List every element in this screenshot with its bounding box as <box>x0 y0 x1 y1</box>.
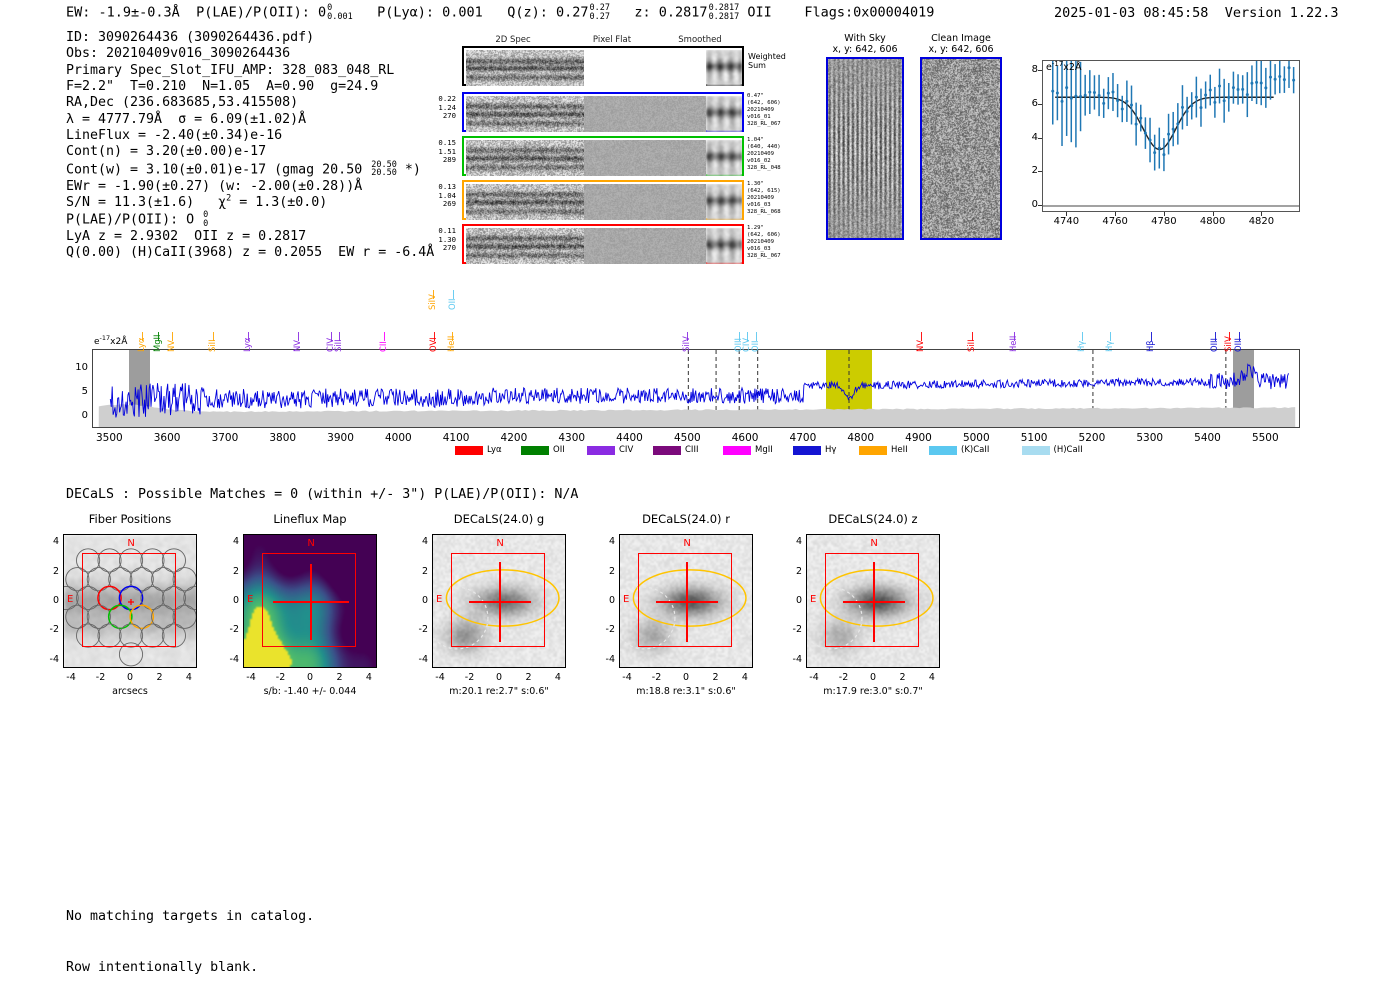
panel-crosshair-v-2 <box>499 562 500 642</box>
line-label-siiv-24: SiIV <box>1223 336 1233 352</box>
panel-0-xtick-0: -4 <box>59 672 83 683</box>
spectrum-xtick-18: 5300 <box>1126 432 1174 444</box>
weighted-sum-pixelflat-image <box>584 50 706 86</box>
ytick-mark-3 <box>1038 171 1042 172</box>
param-cont-w: Cont(w) = 3.10(±0.01)e-17 (gmag 20.50 20… <box>66 161 434 179</box>
header-flags: Flags:0x00004019 <box>804 5 934 21</box>
line-marker-tick-2 <box>172 332 173 341</box>
spectrum-xtick-10: 4500 <box>663 432 711 444</box>
fiber-3-right-label-0: 1.29" <box>747 225 764 232</box>
line-marker-tick-22 <box>1151 332 1152 341</box>
parameter-block: ID: 3090264436 (3090264436.pdf) Obs: 202… <box>66 30 434 262</box>
panel-4-ytick-3: -2 <box>784 624 802 635</box>
legend-swatch-8 <box>1022 446 1050 455</box>
header-z-value: 0.2817 <box>659 5 708 21</box>
panel-0-ytick-0: 4 <box>41 536 59 547</box>
panel-4-ytick-2: 0 <box>784 595 802 606</box>
spec2d-col-title-0: 2D Spec <box>485 35 541 45</box>
fiber-3-pixelflat-image <box>584 228 706 264</box>
line-marker-tick-12 <box>453 290 454 299</box>
legend-label-3: CIII <box>685 445 698 455</box>
xtick-mark-3 <box>1213 212 1214 216</box>
legend-label-6: HeII <box>891 445 908 455</box>
panel-4-xtick-0: -4 <box>802 672 826 683</box>
line-label-hγ-21: Hγ <box>1104 341 1114 352</box>
panel-crosshair-v-4 <box>873 562 874 642</box>
fiber-0-right-label-0: 0.47" <box>747 93 764 100</box>
line-marker-tick-3 <box>213 332 214 341</box>
spectrum-xtick-17: 5200 <box>1068 432 1116 444</box>
panel-1-ytick-1: 2 <box>221 566 239 577</box>
panel-1-ytick-3: -2 <box>221 624 239 635</box>
panel-0-ytick-4: -4 <box>41 654 59 665</box>
panel-1-xtick-2: 0 <box>298 672 322 683</box>
panel-0-xtick-2: 0 <box>118 672 142 683</box>
header-plae-frac: 00.001 <box>327 4 353 21</box>
xtick-mark-1 <box>1115 212 1116 216</box>
line-profile-ytick-4: 0 <box>1020 199 1038 210</box>
spectrum-axes <box>92 349 1300 428</box>
panel-caption-3: m:18.8 re:3.1" s:0.6" <box>581 686 791 697</box>
panel-2-xtick-1: -2 <box>458 672 482 683</box>
fiber-1-pixelflat-image <box>584 140 706 176</box>
legend-swatch-3 <box>653 446 681 455</box>
legend-label-4: MgII <box>755 445 773 455</box>
param-cont-n: Cont(n) = 3.20(±0.00)e-17 <box>66 144 434 160</box>
panel-2-ytick-0: 4 <box>410 536 428 547</box>
fiber-0-right-label-2: 20210409 <box>747 107 774 114</box>
line-marker-tick-15 <box>747 332 748 341</box>
fiber-3-2dspec-image <box>466 228 584 264</box>
spectrum-xtick-1: 3600 <box>143 432 191 444</box>
legend-label-7: (K)CaII <box>961 445 989 455</box>
line-marker-tick-0 <box>142 332 143 341</box>
panel-frame-4 <box>806 534 940 668</box>
weighted-sum-2dspec-image <box>466 50 584 86</box>
panel-4-xtick-1: -2 <box>832 672 856 683</box>
panel-2-ytick-1: 2 <box>410 566 428 577</box>
line-label-hγ-20: Hγ <box>1076 341 1086 352</box>
panel-frame-0 <box>63 534 197 668</box>
cutout-canvas-1 <box>922 59 1000 238</box>
line-marker-tick-25 <box>1239 332 1240 341</box>
line-profile-xtick-0: 4740 <box>1046 216 1086 227</box>
footer-line-1: No matching targets in catalog. <box>66 908 314 925</box>
spec2d-col-title-1: Pixel Flat <box>584 35 640 45</box>
panel-1-ytick-4: -4 <box>221 654 239 665</box>
header-summary-line: EW: -1.9±-0.3Å P(LAE)/P(OII): 000.001 P(… <box>66 4 934 21</box>
panel-east-marker-0: E <box>67 594 73 605</box>
line-marker-tick-19 <box>1014 332 1015 341</box>
panel-red-square-0 <box>82 553 176 647</box>
panel-2-xtick-3: 2 <box>516 672 540 683</box>
fiber-0-smoothed-image <box>706 96 742 132</box>
header-plya-label: P(Lyα): <box>377 5 434 21</box>
panel-3-ytick-2: 0 <box>597 595 615 606</box>
legend-label-5: Hγ <box>825 445 836 455</box>
spectrum-xtick-16: 5100 <box>1010 432 1058 444</box>
legend-swatch-6 <box>859 446 887 455</box>
line-label-oiii-25: OIII <box>1233 338 1243 352</box>
version-label: Version 1.22.3 <box>1225 5 1339 21</box>
line-label-heii-11: HeII <box>446 336 456 352</box>
panel-red-square-1 <box>262 553 356 647</box>
cutout-title-1: Clean Image <box>898 33 1024 44</box>
param-q-caii: Q(0.00) (H)CaII(3968) z = 0.2055 EW r = … <box>66 245 434 261</box>
panel-3-xtick-0: -4 <box>615 672 639 683</box>
spectrum-ytick-2: 10 <box>64 362 88 373</box>
fiber-1-right-label-2: 20210409 <box>747 151 774 158</box>
exp-rest: x2Å <box>110 337 127 347</box>
spectrum-exponent-label: e-17x2Å <box>94 337 127 347</box>
cutout-canvas-0 <box>828 59 902 238</box>
panel-2-ytick-3: -2 <box>410 624 428 635</box>
legend-label-2: CIV <box>619 445 633 455</box>
ytick-mark-2 <box>1038 138 1042 139</box>
weighted-sum-label-2: Sum <box>748 61 766 71</box>
spectrum-ytick-0: 0 <box>64 410 88 421</box>
ytick-mark-0 <box>1038 70 1042 71</box>
header-qz-label: Q(z): <box>507 5 548 21</box>
line-label-ovi-9: OVI <box>428 337 438 352</box>
spectrum-xtick-5: 4000 <box>374 432 422 444</box>
spectrum-xtick-20: 5500 <box>1241 432 1289 444</box>
line-profile-ytick-1: 6 <box>1020 98 1038 109</box>
panel-caption-0: arcsecs <box>25 686 235 697</box>
line-marker-tick-7 <box>339 332 340 341</box>
fiber-1-right-label-1: (640, 440) <box>747 144 781 151</box>
panel-east-marker-3: E <box>623 594 629 605</box>
fiber-2-right-label-4: 328_RL_068 <box>747 209 781 216</box>
fiber-3-right-label-2: 20210409 <box>747 239 774 246</box>
legend-label-1: OII <box>553 445 565 455</box>
header-timestamp-version: 2025-01-03 08:45:58 Version 1.22.3 <box>1054 5 1339 21</box>
panel-2-ytick-2: 0 <box>410 595 428 606</box>
spectrum-xtick-9: 4400 <box>606 432 654 444</box>
fiber-3-right-label-3: v016_03 <box>747 246 771 253</box>
fiber-strip-3 <box>462 224 744 264</box>
spectrum-xtick-11: 4600 <box>721 432 769 444</box>
fiber-2-right-label-3: v016_03 <box>747 202 771 209</box>
weighted-sum-smoothed-image <box>706 50 742 86</box>
param-plae-poii: P(LAE)/P(OII): O 00 <box>66 211 434 229</box>
xtick-mark-0 <box>1066 212 1067 216</box>
line-label-siii-18: SiII <box>966 339 976 352</box>
exp-superscript: -17 <box>1052 60 1063 68</box>
fiber-2-left-label-2: 269 <box>424 200 456 209</box>
fiber-0-right-label-4: 328_RL_067 <box>747 121 781 128</box>
fiber-strip-2 <box>462 180 744 220</box>
panel-4-ytick-1: 2 <box>784 566 802 577</box>
line-marker-tick-5 <box>298 332 299 341</box>
panel-red-square-4 <box>825 553 919 647</box>
line-marker-tick-20 <box>1082 332 1083 341</box>
panel-crosshair-v-3 <box>686 562 687 642</box>
fiber-0-right-label-1: (642, 606) <box>747 100 781 107</box>
spectrum-xtick-13: 4800 <box>837 432 885 444</box>
legend-swatch-7 <box>929 446 957 455</box>
panel-1-xtick-3: 2 <box>327 672 351 683</box>
param-ewr: EWr = -1.90(±0.27) (w: -2.00(±0.28))Å <box>66 179 434 195</box>
legend-swatch-1 <box>521 446 549 455</box>
panel-north-marker-1: N <box>307 538 314 549</box>
panel-3-xtick-1: -2 <box>645 672 669 683</box>
panel-title-3: DECaLS(24.0) r <box>583 512 789 526</box>
fiber-2-right-label-1: (642, 615) <box>747 188 781 195</box>
panel-1-ytick-0: 4 <box>221 536 239 547</box>
decals-summary: DECaLS : Possible Matches = 0 (within +/… <box>66 487 578 502</box>
param-lineflux: LineFlux = -2.40(±0.34)e-16 <box>66 128 434 144</box>
header-plae-label: P(LAE)/P(OII): <box>196 5 310 21</box>
panel-1-ytick-2: 0 <box>221 595 239 606</box>
spectrum-xtick-0: 3500 <box>85 432 133 444</box>
ytick-mark-4 <box>1038 205 1042 206</box>
exp-superscript: -17 <box>100 334 111 342</box>
line-label-nv-17: NV <box>915 340 925 352</box>
fiber-1-right-label-3: v016_02 <box>747 158 771 165</box>
panel-0-xtick-4: 4 <box>177 672 201 683</box>
param-fwhm-throughput: F=2.2" T=0.210 N=1.05 A=0.90 g=24.9 <box>66 79 434 95</box>
cutout-subtitle-1: x, y: 642, 606 <box>898 44 1024 55</box>
panel-1-xtick-4: 4 <box>357 672 381 683</box>
spectrum-xtick-8: 4300 <box>548 432 596 444</box>
panel-east-marker-1: E <box>247 594 253 605</box>
spectrum-xtick-19: 5400 <box>1184 432 1232 444</box>
footer-message: No matching targets in catalog. Row inte… <box>66 874 314 993</box>
line-label-nv-2: NV <box>166 340 176 352</box>
panel-title-1: Lineflux Map <box>207 512 413 526</box>
panel-4-ytick-0: 4 <box>784 536 802 547</box>
spectrum-xtick-3: 3800 <box>259 432 307 444</box>
panel-0-ytick-1: 2 <box>41 566 59 577</box>
spectrum-xtick-7: 4200 <box>490 432 538 444</box>
fiber-2-pixelflat-image <box>584 184 706 220</box>
fiber-3-smoothed-image <box>706 228 742 264</box>
line-profile-ytick-3: 2 <box>1020 165 1038 176</box>
panel-0-xtick-3: 2 <box>147 672 171 683</box>
legend-swatch-4 <box>723 446 751 455</box>
line-marker-tick-9 <box>434 332 435 341</box>
line-label-lyα-4: Lyα <box>242 338 252 352</box>
spec2d-col-title-2: Smoothed <box>672 35 728 45</box>
line-label-oii-16: OII <box>750 340 760 352</box>
panel-caption-4: m:17.9 re:3.0" s:0.7" <box>768 686 978 697</box>
header-qz-value: 0.27 <box>556 5 589 21</box>
fiber-1-2dspec-image <box>466 140 584 176</box>
line-profile-axes <box>1042 60 1300 212</box>
spectrum-xtick-15: 5000 <box>952 432 1000 444</box>
spectrum-xtick-12: 4700 <box>779 432 827 444</box>
timestamp: 2025-01-03 08:45:58 <box>1054 5 1208 21</box>
panel-4-xtick-2: 0 <box>861 672 885 683</box>
fiber-2-right-label-2: 20210409 <box>747 195 774 202</box>
param-obs: Obs: 20210409v016_3090264436 <box>66 46 434 62</box>
panel-title-4: DECaLS(24.0) z <box>770 512 976 526</box>
panel-caption-1: s/b: -1.40 +/- 0.044 <box>205 686 415 697</box>
header-z-frac: 0.28170.2817 <box>709 4 740 21</box>
line-label-heii-19: HeII <box>1008 336 1018 352</box>
spectrum-xtick-4: 3900 <box>317 432 365 444</box>
header-z-species: OII <box>747 5 771 21</box>
legend-label-0: Lyα <box>487 445 502 455</box>
panel-crosshair-v-1 <box>310 564 311 639</box>
fiber-1-left-label-2: 289 <box>424 156 456 165</box>
panel-3-ytick-0: 4 <box>597 536 615 547</box>
line-label-nv-5: NV <box>292 340 302 352</box>
line-marker-tick-10 <box>433 290 434 299</box>
line-profile-xtick-2: 4780 <box>1144 216 1184 227</box>
panel-north-marker-0: N <box>127 538 134 549</box>
panel-red-square-2 <box>451 553 545 647</box>
panel-3-ytick-4: -4 <box>597 654 615 665</box>
panel-title-2: DECaLS(24.0) g <box>396 512 602 526</box>
panel-2-xtick-2: 0 <box>487 672 511 683</box>
line-profile-exponent-label: e-17x2Å <box>1046 62 1081 73</box>
panel-4-xtick-4: 4 <box>920 672 944 683</box>
xtick-mark-4 <box>1261 212 1262 216</box>
panel-3-ytick-1: 2 <box>597 566 615 577</box>
spectrum-ytick-1: 5 <box>64 386 88 397</box>
line-profile-xtick-3: 4800 <box>1193 216 1233 227</box>
line-label-siii-7: SiII <box>333 339 343 352</box>
panel-red-square-3 <box>638 553 732 647</box>
panel-title-0: Fiber Positions <box>27 512 233 526</box>
line-marker-tick-17 <box>921 332 922 341</box>
panel-caption-2: m:20.1 re:2.7" s:0.6" <box>394 686 604 697</box>
header-z-label: z: <box>634 5 650 21</box>
fiber-2-smoothed-image <box>706 184 742 220</box>
ytick-mark-1 <box>1038 104 1042 105</box>
header-plya-value: 0.001 <box>442 5 483 21</box>
fiber-strip-0 <box>462 92 744 132</box>
line-marker-tick-23 <box>1215 332 1216 341</box>
fiber-0-right-label-3: v016_01 <box>747 114 771 121</box>
param-redshifts: LyA z = 2.9302 OII z = 0.2817 <box>66 229 434 245</box>
weighted-sum-strip <box>462 46 744 86</box>
fiber-0-pixelflat-image <box>584 96 706 132</box>
line-label-cii-8: CII <box>378 341 388 352</box>
fiber-2-2dspec-image <box>466 184 584 220</box>
line-label-siiv-13: SiIV <box>681 336 691 352</box>
legend-swatch-0 <box>455 446 483 455</box>
panel-north-marker-3: N <box>683 538 690 549</box>
panel-4-ytick-4: -4 <box>784 654 802 665</box>
line-label-hβ-22: Hβ <box>1145 340 1155 352</box>
spectrum-xtick-2: 3700 <box>201 432 249 444</box>
fiber-3-right-label-4: 328_RL_067 <box>747 253 781 260</box>
line-label-oiii-23: OIII <box>1209 338 1219 352</box>
header-ew: EW: -1.9±-0.3Å <box>66 5 180 21</box>
header-plae-value: 0 <box>318 5 326 21</box>
panel-2-ytick-4: -4 <box>410 654 428 665</box>
fiber-0-2dspec-image <box>466 96 584 132</box>
panel-3-xtick-3: 2 <box>703 672 727 683</box>
line-profile-ytick-0: 8 <box>1020 64 1038 75</box>
fiber-0-left-label-2: 270 <box>424 112 456 121</box>
line-marker-tick-18 <box>972 332 973 341</box>
fiber-1-smoothed-image <box>706 140 742 176</box>
panel-north-marker-2: N <box>496 538 503 549</box>
panel-frame-2 <box>432 534 566 668</box>
legend-swatch-5 <box>793 446 821 455</box>
legend-swatch-2 <box>587 446 615 455</box>
panel-east-marker-2: E <box>436 594 442 605</box>
line-marker-tick-21 <box>1110 332 1111 341</box>
fiber-1-right-label-4: 328_RL_048 <box>747 165 781 172</box>
panel-3-xtick-4: 4 <box>733 672 757 683</box>
line-label-siiv-10: SiIV <box>427 294 437 310</box>
param-lambda-sigma: λ = 4777.79Å σ = 6.09(±1.02)Å <box>66 112 434 128</box>
panel-4-xtick-3: 2 <box>890 672 914 683</box>
line-profile-xtick-1: 4760 <box>1095 216 1135 227</box>
line-label-siii-3: SiII <box>207 339 217 352</box>
fiber-strip-1 <box>462 136 744 176</box>
line-profile-svg <box>1043 61 1299 211</box>
panel-3-ytick-3: -2 <box>597 624 615 635</box>
panel-north-marker-4: N <box>870 538 877 549</box>
spectrum-xtick-14: 4900 <box>895 432 943 444</box>
fiber-2-right-label-0: 1.30" <box>747 181 764 188</box>
line-marker-tick-4 <box>248 332 249 341</box>
exp-rest: x2Å <box>1063 62 1081 73</box>
line-profile-ytick-2: 4 <box>1020 132 1038 143</box>
spectrum-svg <box>93 350 1299 427</box>
line-marker-tick-8 <box>384 332 385 341</box>
panel-0-ytick-2: 0 <box>41 595 59 606</box>
panel-frame-1 <box>243 534 377 668</box>
line-marker-tick-11 <box>452 332 453 341</box>
fiber-3-right-label-1: (642, 606) <box>747 232 781 239</box>
legend-label-8: (H)CaII <box>1054 445 1083 455</box>
line-label-mgii-1: MgII <box>152 335 162 352</box>
panel-2-xtick-0: -4 <box>428 672 452 683</box>
spectrum-xtick-6: 4100 <box>432 432 480 444</box>
cutout-image-0 <box>826 57 904 240</box>
xtick-mark-2 <box>1164 212 1165 216</box>
param-sn-chi2: S/N = 11.3(±1.6) χ2 = 1.3(±0.0) <box>66 195 434 211</box>
line-marker-tick-24 <box>1229 332 1230 341</box>
panel-0-ytick-3: -2 <box>41 624 59 635</box>
param-id: ID: 3090264436 (3090264436.pdf) <box>66 30 434 46</box>
line-label-lyα-0: Lyα <box>136 338 146 352</box>
line-label-oii-12: OII <box>447 298 457 310</box>
panel-1-xtick-1: -2 <box>269 672 293 683</box>
header-qz-frac: 0.270.27 <box>590 4 610 21</box>
fiber-3-left-label-2: 270 <box>424 244 456 253</box>
line-profile-xtick-4: 4820 <box>1241 216 1281 227</box>
line-marker-tick-16 <box>756 332 757 341</box>
fiber-1-right-label-0: 1.04" <box>747 137 764 144</box>
line-marker-tick-1 <box>158 332 159 341</box>
cutout-image-1 <box>920 57 1002 240</box>
param-primary-spec-slot: Primary Spec_Slot_IFU_AMP: 328_083_048_R… <box>66 63 434 79</box>
panel-frame-3 <box>619 534 753 668</box>
panel-2-xtick-4: 4 <box>546 672 570 683</box>
panel-0-xtick-1: -2 <box>89 672 113 683</box>
panel-east-marker-4: E <box>810 594 816 605</box>
panel-3-xtick-2: 0 <box>674 672 698 683</box>
line-marker-tick-13 <box>687 332 688 341</box>
panel-1-xtick-0: -4 <box>239 672 263 683</box>
param-radec: RA,Dec (236.683685,53.415508) <box>66 95 434 111</box>
footer-line-2: Row intentionally blank. <box>66 959 314 976</box>
